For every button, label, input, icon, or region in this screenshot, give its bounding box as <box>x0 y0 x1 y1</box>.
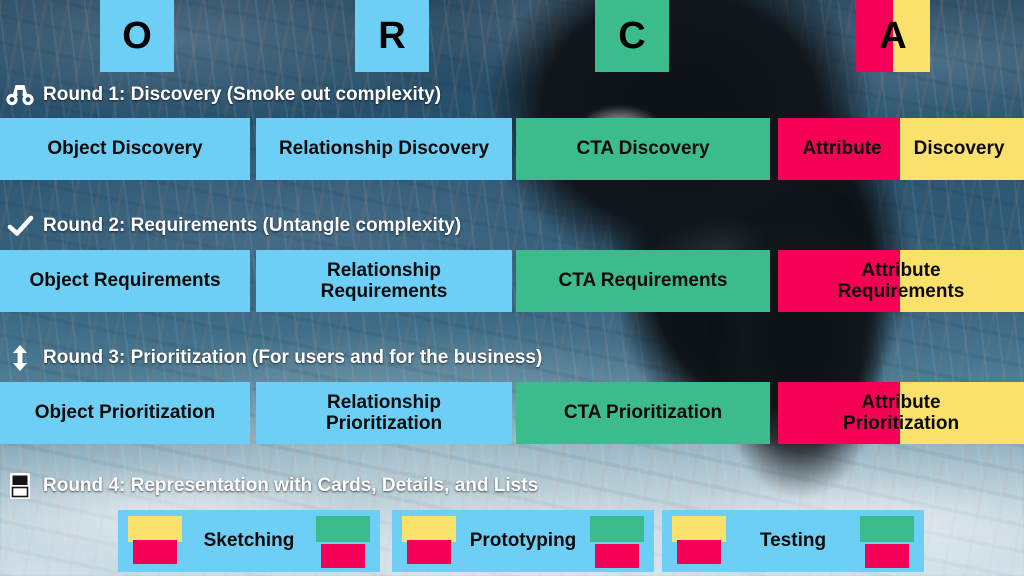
acronym-letter-o: O <box>100 0 174 72</box>
round-2-bar-cta-label: CTA Requirements <box>559 270 728 291</box>
acronym-letter-c: C <box>595 0 669 72</box>
round-2-bar-attribute-line1: Attribute <box>861 260 940 281</box>
round-2-bar-attribute-line2: Requirements <box>838 281 965 302</box>
round-1-bar-object[interactable]: Object Discovery <box>0 118 250 180</box>
round-2-bar-object[interactable]: Object Requirements <box>0 250 250 312</box>
round-2-bar-relationship[interactable]: Relationship Requirements <box>256 250 512 312</box>
round-4-heading-text: Round 4: Representation with Cards, Deta… <box>43 475 538 497</box>
round-3-bar-attribute-line1: Attribute <box>861 392 940 413</box>
prototyping-right-pink <box>595 544 639 568</box>
sketching-right-pink <box>321 544 365 568</box>
card-detail-icon <box>6 473 34 499</box>
testing-right-swatch <box>860 516 914 562</box>
updown-arrow-icon <box>6 345 34 371</box>
testing-left-pink <box>677 540 721 564</box>
round-4-card-prototyping-label: Prototyping <box>470 530 577 552</box>
round-2-bar-relationship-line1: Relationship <box>327 260 441 281</box>
round-1-heading-text: Round 1: Discovery (Smoke out complexity… <box>43 84 441 106</box>
round-4-header: Round 4: Representation with Cards, Deta… <box>6 473 538 499</box>
round-1-bar-relationship[interactable]: Relationship Discovery <box>256 118 512 180</box>
round-3-bar-object[interactable]: Object Prioritization <box>0 382 250 444</box>
round-2-bar-attribute-label: Attribute Requirements <box>838 260 965 303</box>
round-1-bar-attribute[interactable]: Attribute Discovery <box>778 118 1024 180</box>
round-4-card-testing-label: Testing <box>760 530 826 552</box>
round-3-bar-relationship-line2: Prioritization <box>326 413 442 434</box>
round-3-bar-relationship-label: Relationship Prioritization <box>326 392 442 435</box>
round-4-card-sketching[interactable]: Sketching <box>118 510 380 572</box>
sketching-right-green <box>316 516 370 542</box>
round-3-heading-text: Round 3: Prioritization (For users and f… <box>43 347 542 369</box>
round-2-header: Round 2: Requirements (Untangle complexi… <box>6 213 461 239</box>
prototyping-right-swatch <box>590 516 644 562</box>
round-2-bar-relationship-line2: Requirements <box>321 281 448 302</box>
testing-right-green <box>860 516 914 542</box>
round-3-bar-cta[interactable]: CTA Prioritization <box>516 382 770 444</box>
round-2-bar-relationship-label: Relationship Requirements <box>321 260 448 303</box>
round-4-card-prototyping[interactable]: Prototyping <box>392 510 654 572</box>
acronym-letter-o-glyph: O <box>122 17 152 55</box>
prototyping-left-swatch <box>402 516 456 562</box>
round-1-bar-attribute-label-right: Discovery <box>900 118 1018 180</box>
round-1-bar-object-label: Object Discovery <box>47 138 202 159</box>
testing-left-yellow <box>672 516 726 542</box>
acronym-letter-r-glyph: R <box>378 17 405 55</box>
round-3-bar-attribute-line2: Prioritization <box>843 413 959 434</box>
acronym-letter-r: R <box>355 0 429 72</box>
round-2-bar-attribute[interactable]: Attribute Requirements <box>778 250 1024 312</box>
prototyping-left-pink <box>407 540 451 564</box>
testing-left-swatch <box>672 516 726 562</box>
round-3-bar-relationship[interactable]: Relationship Prioritization <box>256 382 512 444</box>
acronym-letter-c-glyph: C <box>618 17 645 55</box>
sketching-left-yellow <box>128 516 182 542</box>
round-3-bar-attribute-label: Attribute Prioritization <box>843 392 959 435</box>
round-1-bar-relationship-label: Relationship Discovery <box>279 138 489 159</box>
round-1-bar-cta-label: CTA Discovery <box>576 138 709 159</box>
binoculars-icon <box>6 82 34 108</box>
round-2-bar-cta[interactable]: CTA Requirements <box>516 250 770 312</box>
slide-canvas: O R C A Round 1: Discovery (Smoke out co… <box>0 0 1024 576</box>
acronym-letter-a: A <box>856 0 930 72</box>
sketching-right-swatch <box>316 516 370 562</box>
acronym-letter-a-glyph: A <box>879 17 906 55</box>
round-3-bar-cta-label: CTA Prioritization <box>564 402 722 423</box>
round-3-bar-object-label: Object Prioritization <box>35 402 216 423</box>
check-icon <box>6 213 34 239</box>
round-2-heading-text: Round 2: Requirements (Untangle complexi… <box>43 215 461 237</box>
prototyping-left-yellow <box>402 516 456 542</box>
sketching-left-swatch <box>128 516 182 562</box>
round-3-header: Round 3: Prioritization (For users and f… <box>6 345 542 371</box>
round-4-card-sketching-label: Sketching <box>204 530 295 552</box>
round-1-header: Round 1: Discovery (Smoke out complexity… <box>6 82 441 108</box>
round-1-bar-cta[interactable]: CTA Discovery <box>516 118 770 180</box>
round-4-card-testing[interactable]: Testing <box>662 510 924 572</box>
round-3-bar-relationship-line1: Relationship <box>327 392 441 413</box>
prototyping-right-green <box>590 516 644 542</box>
testing-right-pink <box>865 544 909 568</box>
round-1-bar-attribute-label: Attribute Discovery <box>784 118 1018 180</box>
round-3-bar-attribute[interactable]: Attribute Prioritization <box>778 382 1024 444</box>
round-1-bar-attribute-label-left: Attribute <box>784 118 900 180</box>
round-2-bar-object-label: Object Requirements <box>29 270 220 291</box>
sketching-left-pink <box>133 540 177 564</box>
